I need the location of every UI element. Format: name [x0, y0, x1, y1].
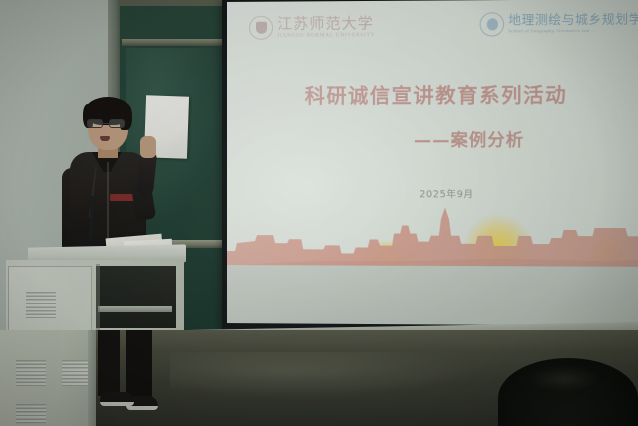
school-name-cn: 地理测绘与城乡规划学院	[508, 13, 638, 27]
university-name-cn: 江苏师范大学	[277, 16, 375, 32]
slide-ground-band	[227, 265, 638, 326]
lectern-shelf	[98, 306, 172, 312]
school-logo: 地理测绘与城乡规划学院 School of Geography, Geomati…	[480, 11, 638, 36]
projection-screen-frame: 江苏师范大学 JIANGSU NORMAL UNIVERSITY 地理测绘与城乡…	[222, 0, 638, 333]
lectern-front-vent-2	[16, 404, 46, 424]
slide-subtitle: ——案例分析	[227, 125, 638, 151]
school-name-en: School of Geography, Geomatics and ...	[508, 29, 638, 34]
school-seal-icon	[480, 12, 505, 36]
presenter-leg-left	[98, 330, 120, 396]
blackboard-rail-upper	[122, 39, 232, 46]
lectern-front-edge	[88, 330, 96, 426]
slide-skyline-graphic	[227, 205, 638, 326]
projection-screen: 江苏师范大学 JIANGSU NORMAL UNIVERSITY 地理测绘与城乡…	[227, 0, 638, 326]
slide-date: 2025年9月	[227, 186, 638, 201]
glasses-icon	[87, 119, 129, 128]
audience-hair-highlight	[528, 366, 600, 392]
shoe-sole-right	[126, 406, 158, 410]
university-logo: 江苏师范大学 JIANGSU NORMAL UNIVERSITY	[249, 15, 375, 40]
classroom-photo: 江苏师范大学 JIANGSU NORMAL UNIVERSITY 地理测绘与城乡…	[0, 0, 638, 426]
lectern-open-compartment	[96, 266, 176, 328]
floor-reflection	[170, 352, 470, 398]
blackboard-top-frame	[120, 0, 232, 6]
presenter-leg-right	[126, 330, 152, 400]
university-seal-icon	[249, 16, 273, 40]
university-name-en: JIANGSU NORMAL UNIVERSITY	[277, 33, 375, 39]
lectern-vent-upper	[26, 292, 56, 318]
lectern-front-vent-3	[62, 360, 88, 386]
slide-logo-row: 江苏师范大学 JIANGSU NORMAL UNIVERSITY 地理测绘与城乡…	[227, 13, 638, 50]
presenter-right-hand	[140, 136, 156, 158]
lectern-front-vent-1	[16, 360, 46, 386]
slide-title: 科研诚信宣讲教育系列活动	[227, 78, 638, 109]
presenter-mouth	[100, 136, 110, 141]
